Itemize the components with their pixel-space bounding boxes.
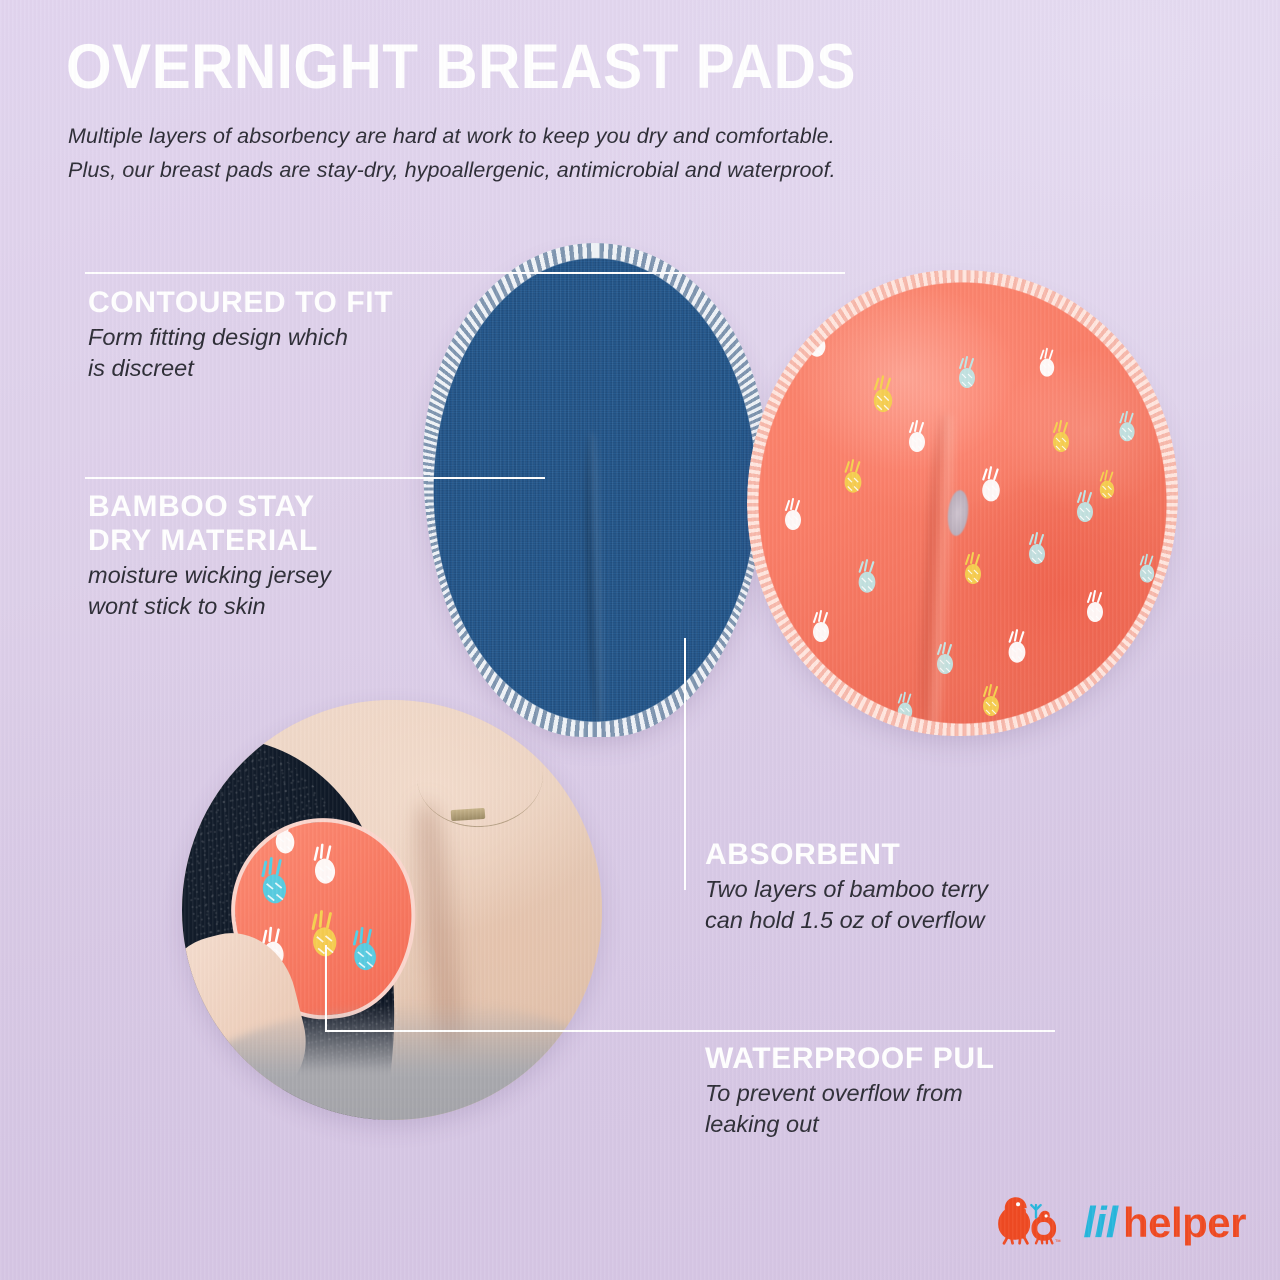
divider-line-absorbent: [684, 888, 686, 890]
feature-body: moisture wicking jersey wont stick to sk…: [88, 560, 428, 622]
feature-absorbent: ABSORBENT Two layers of bamboo terry can…: [705, 838, 1065, 936]
feature-body: Two layers of bamboo terry can hold 1.5 …: [705, 874, 1065, 936]
feature-body: To prevent overflow from leaking out: [705, 1078, 1045, 1140]
brand-logo[interactable]: ™ lil helper: [997, 1194, 1246, 1252]
coral-pad-overlock-stitching: [747, 270, 1178, 736]
feature-bamboo-stay-dry: BAMBOO STAY DRY MATERIAL moisture wickin…: [88, 490, 428, 622]
blue-pad-overlock-stitching: [423, 243, 767, 737]
leader-line-absorbent-vertical: [684, 638, 686, 890]
blue-breast-pad-image: [430, 250, 760, 730]
trademark-symbol: ™: [1055, 1239, 1061, 1246]
divider-line-contoured: [85, 272, 845, 274]
leader-line-waterproof-vertical: [325, 945, 327, 1032]
feature-waterproof-pul: WATERPROOF PUL To prevent overflow from …: [705, 1042, 1045, 1140]
lifestyle-photo-circle: [182, 700, 602, 1120]
feature-body: Form fitting design which is discreet: [88, 322, 418, 384]
logo-wordmark: lil helper: [1083, 1201, 1246, 1245]
logo-helper-text: helper: [1123, 1202, 1246, 1244]
feature-heading: ABSORBENT: [705, 838, 1065, 872]
page-title: OVERNIGHT BREAST PADS: [66, 36, 856, 99]
infographic-canvas: OVERNIGHT BREAST PADS Multiple layers of…: [0, 0, 1280, 1280]
feature-contoured-to-fit: CONTOURED TO FIT Form fitting design whi…: [88, 286, 418, 384]
feature-heading: CONTOURED TO FIT: [88, 286, 418, 320]
feature-heading: WATERPROOF PUL: [705, 1042, 1045, 1076]
divider-line-bamboo: [85, 477, 545, 479]
divider-line-waterproof: [325, 1030, 1055, 1032]
page-subtitle: Multiple layers of absorbency are hard a…: [68, 120, 836, 188]
feature-heading: BAMBOO STAY DRY MATERIAL: [88, 490, 428, 558]
coral-pineapple-breast-pad-image: [755, 278, 1170, 728]
logo-lil-text: lil: [1083, 1201, 1117, 1245]
lil-helper-birds-icon: ™: [997, 1194, 1075, 1252]
